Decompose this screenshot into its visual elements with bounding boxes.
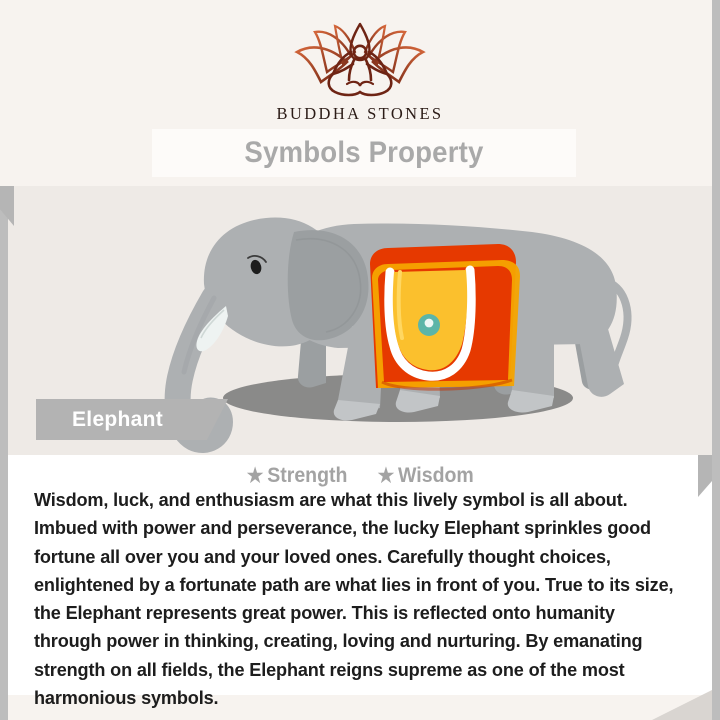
attribute-wisdom: ★Wisdom [377, 463, 473, 488]
brand-name: BUDDHA STONES [0, 104, 720, 124]
lotus-meditation-icon [0, 22, 720, 100]
description-text: Wisdom, luck, and enthusiasm are what th… [34, 486, 684, 712]
star-icon: ★ [247, 465, 264, 487]
brand-logo: BUDDHA STONES [0, 22, 720, 124]
page-title: Symbols Property [244, 136, 483, 170]
star-icon: ★ [377, 465, 394, 487]
attributes-row: ★Strength ★Wisdom [0, 463, 720, 488]
attribute-strength: ★Strength [247, 463, 348, 488]
badge-label: Elephant [72, 408, 163, 432]
attribute-strength-label: Strength [267, 464, 347, 487]
symbols-property-infographic: BUDDHA STONES Symbols Property [0, 0, 720, 720]
title-banner: Symbols Property [152, 129, 576, 177]
attribute-wisdom-label: Wisdom [398, 464, 474, 487]
symbol-name-badge: Elephant [36, 399, 228, 440]
